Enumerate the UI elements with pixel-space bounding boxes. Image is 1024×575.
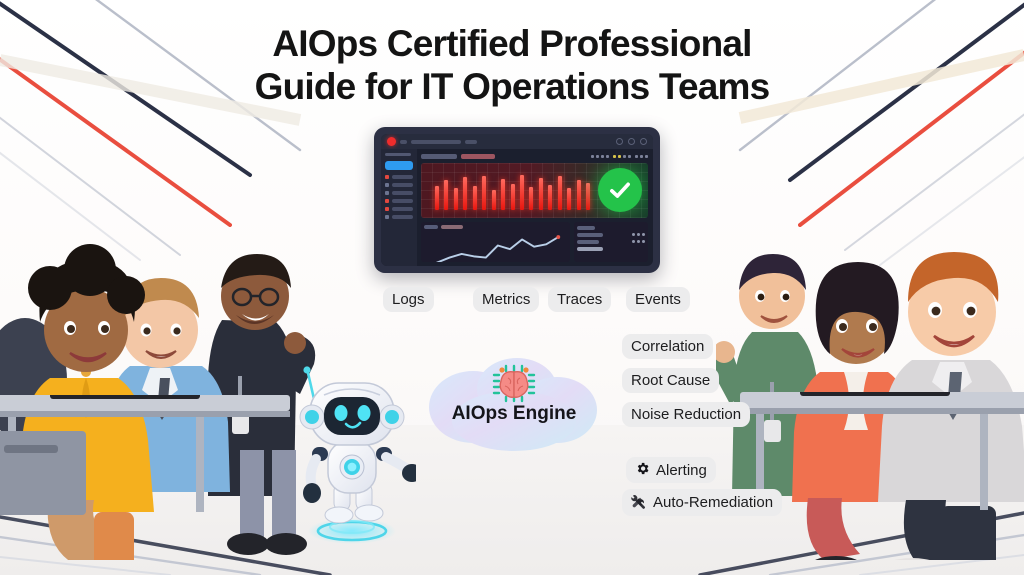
pill-metrics-label: Metrics — [482, 291, 530, 308]
list-row — [577, 247, 645, 251]
green-check-circle-icon — [598, 168, 642, 212]
pill-logs[interactable]: Logs — [383, 287, 434, 312]
list-row — [577, 233, 645, 237]
dashboard-sidebar[interactable] — [381, 149, 417, 266]
sidebar-item[interactable] — [385, 199, 413, 203]
toolbar-status-dots — [591, 155, 609, 158]
page-title: AIOps Certified Professional Guide for I… — [0, 22, 1024, 109]
pill-events[interactable]: Events — [626, 287, 690, 312]
dashboard-screen — [381, 134, 653, 266]
brain-chip-icon — [492, 363, 536, 403]
pill-root-cause[interactable]: Root Cause — [622, 368, 719, 393]
list-row — [577, 240, 645, 244]
sidebar-title-placeholder — [385, 153, 411, 156]
tools-icon — [631, 493, 647, 512]
window-controls[interactable] — [616, 138, 647, 145]
toolbar-status-dots — [613, 155, 631, 158]
desk-right — [740, 392, 1024, 532]
alert-spike-bars — [435, 171, 590, 210]
maximize-icon[interactable] — [628, 138, 635, 145]
pill-auto-remediation-label: Auto-Remediation — [653, 494, 773, 511]
pill-metrics[interactable]: Metrics — [473, 287, 539, 312]
robot-eye — [335, 405, 348, 421]
incident-list-panel[interactable] — [574, 222, 648, 262]
ai-robot-mascot[interactable] — [286, 355, 416, 545]
monitoring-dashboard[interactable] — [374, 127, 660, 273]
toolbar-status-dots — [635, 155, 648, 158]
dashboard-toolbar — [421, 153, 648, 159]
pill-traces[interactable]: Traces — [548, 287, 611, 312]
pill-alerting-label: Alerting — [656, 462, 707, 479]
pill-noise-reduction[interactable]: Noise Reduction — [622, 402, 750, 427]
shoe — [808, 556, 864, 560]
sidebar-item[interactable] — [385, 175, 413, 179]
desk-left — [0, 395, 290, 535]
aiops-engine-label: AIOps Engine — [421, 403, 607, 425]
pill-root-cause-label: Root Cause — [631, 372, 710, 389]
recording-dot — [387, 137, 396, 146]
pill-logs-label: Logs — [392, 291, 425, 308]
titlebar-placeholder — [465, 140, 477, 144]
pill-events-label: Events — [635, 291, 681, 308]
sidebar-item[interactable] — [385, 183, 413, 187]
pill-correlation-label: Correlation — [631, 338, 704, 355]
sidebar-item[interactable] — [385, 191, 413, 195]
title-line-2: Guide for IT Operations Teams — [0, 65, 1024, 108]
dashboard-titlebar — [381, 134, 653, 149]
illustration-canvas: AIOps Certified Professional Guide for I… — [0, 0, 1024, 575]
list-row — [577, 226, 645, 230]
minimize-icon[interactable] — [616, 138, 623, 145]
pill-alerting[interactable]: Alerting — [626, 457, 716, 483]
sidebar-item[interactable] — [385, 207, 413, 211]
robot-eye — [358, 405, 371, 421]
pill-traces-label: Traces — [557, 291, 602, 308]
titlebar-placeholder — [411, 140, 461, 144]
gear-icon — [635, 461, 650, 479]
aiops-engine-cloud[interactable]: AIOps Engine — [421, 355, 607, 455]
sidebar-item-active[interactable] — [385, 161, 413, 170]
sidebar-item[interactable] — [385, 215, 413, 219]
title-line-1: AIOps Certified Professional — [0, 22, 1024, 65]
pill-auto-remediation[interactable]: Auto-Remediation — [622, 489, 782, 516]
close-icon[interactable] — [640, 138, 647, 145]
pill-noise-reduction-label: Noise Reduction — [631, 406, 741, 423]
trend-line-chart — [421, 222, 570, 262]
pill-correlation[interactable]: Correlation — [622, 334, 713, 359]
titlebar-placeholder — [400, 140, 407, 144]
alert-spike-panel — [421, 163, 648, 218]
